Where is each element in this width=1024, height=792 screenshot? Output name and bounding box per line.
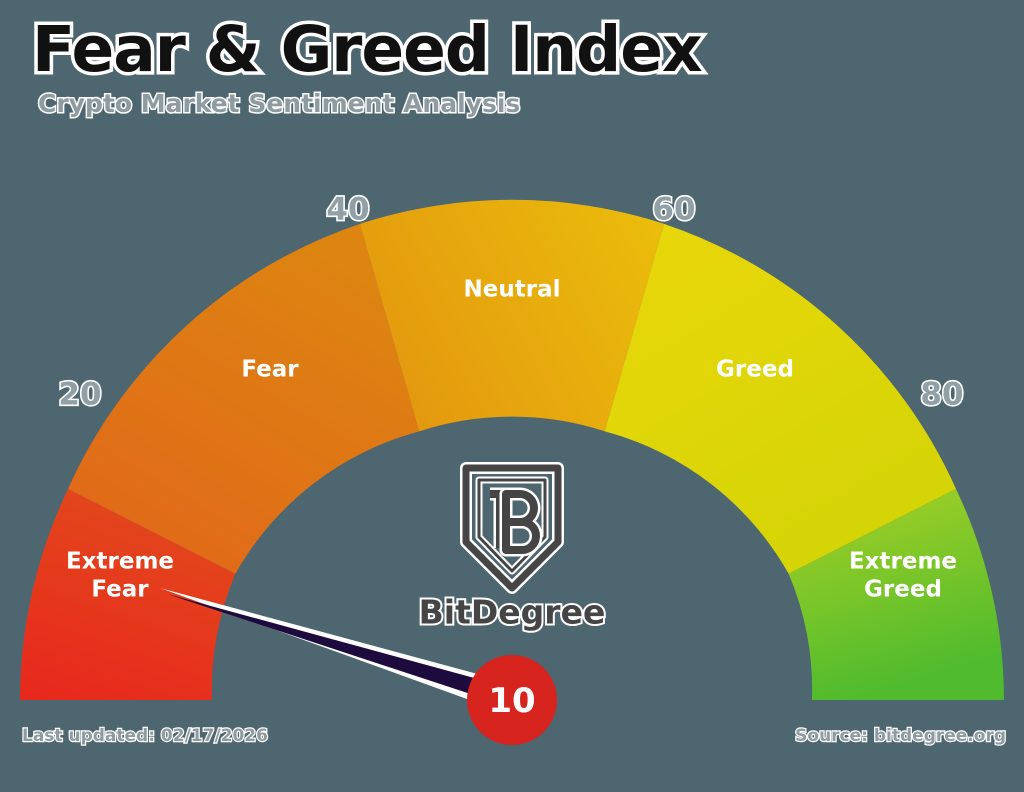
last-updated-text: Last updated: 02/17/2026 [22,726,268,746]
tick-label-60: 60 [652,192,695,228]
fear-greed-gauge: 20 40 60 80 Extreme Fear Fear Neutral Gr… [0,0,1024,792]
zone-label-extreme-fear-line1: Extreme [66,549,174,575]
gauge-value-badge: 10 [467,655,557,745]
zone-label-extreme-greed-line2: Greed [864,577,942,603]
brand-wordmark: BitDegree [419,593,606,632]
zone-label-extreme-fear-line2: Fear [91,577,149,603]
tick-label-20: 20 [58,377,101,413]
gauge-infographic: Fear & Greed Index Crypto Market Sentime… [0,0,1024,792]
source-text: Source: bitdegree.org [795,726,1006,746]
zone-label-fear: Fear [241,357,299,383]
zone-label-greed: Greed [716,357,794,383]
zone-label-extreme-greed-line1: Extreme [849,549,957,575]
zone-label-neutral: Neutral [464,277,561,303]
bitdegree-shield-icon [466,468,558,588]
gauge-value-label: 10 [488,681,535,721]
tick-label-80: 80 [920,377,963,413]
tick-label-40: 40 [326,192,369,228]
